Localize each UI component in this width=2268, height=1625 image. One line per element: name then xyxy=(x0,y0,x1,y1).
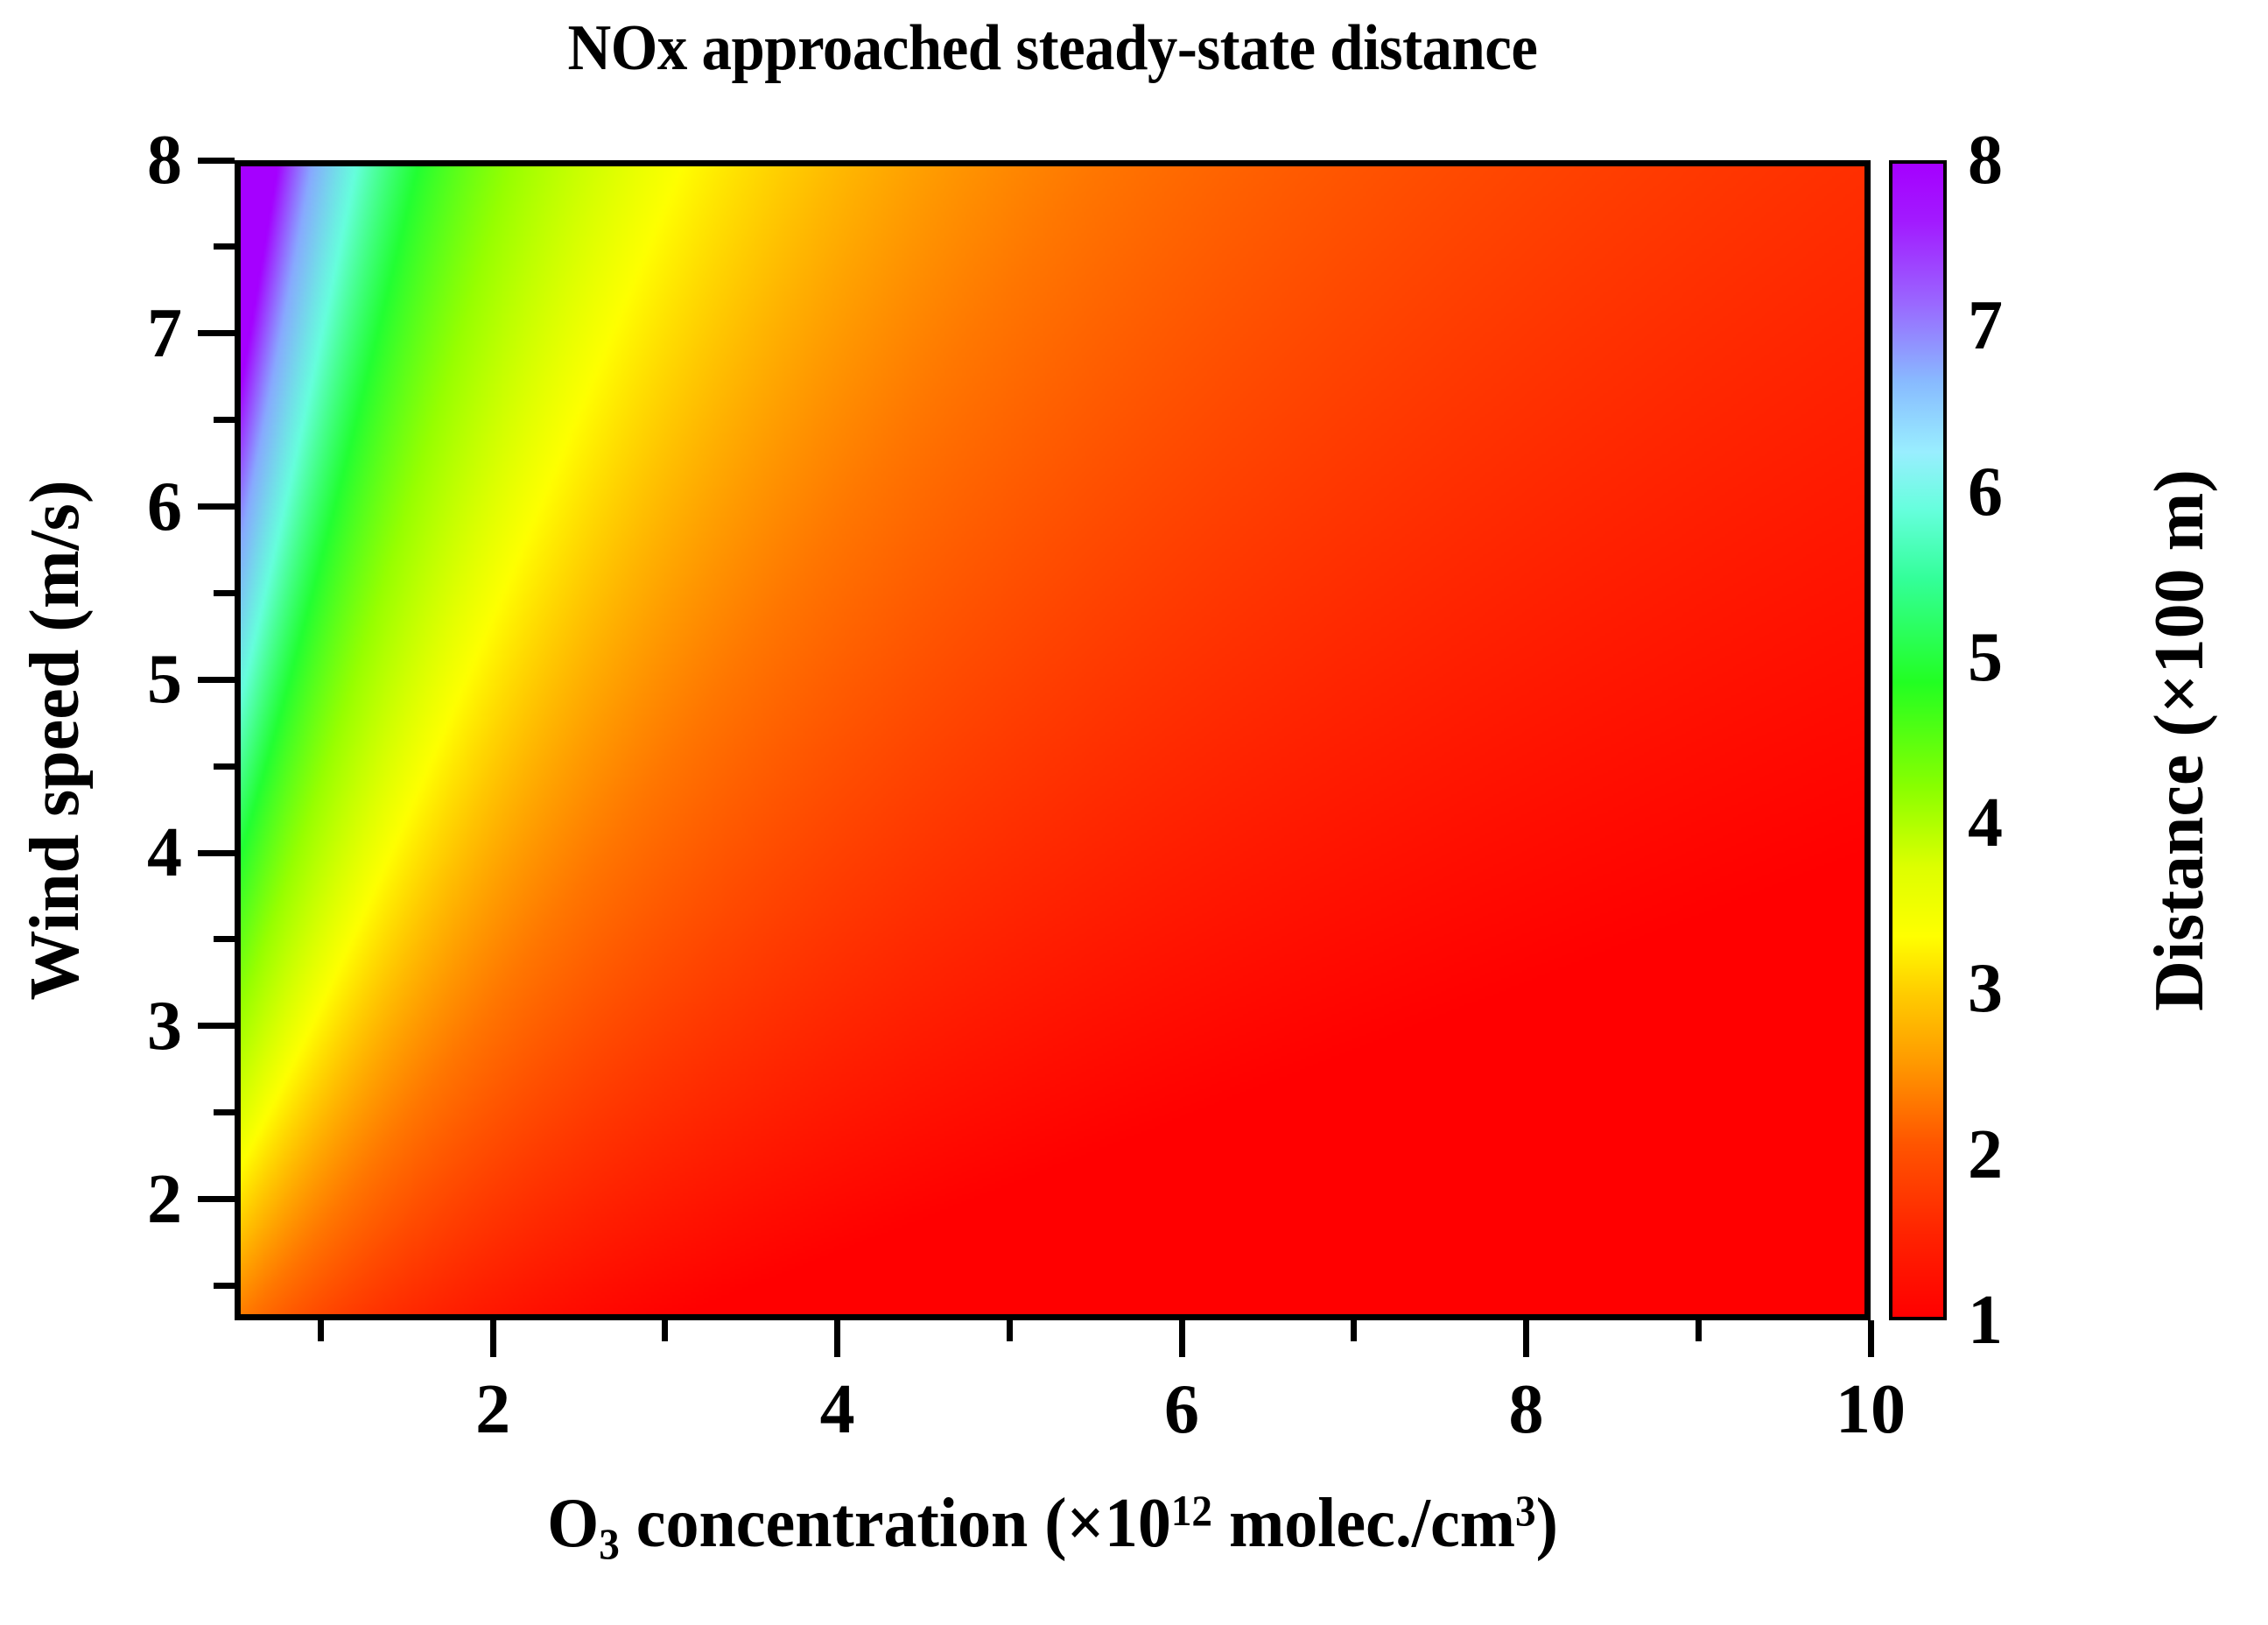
colorbar-tick-label: 1 xyxy=(1968,1285,2003,1355)
page-title: NOx approached steady-state distance xyxy=(291,16,1813,81)
y-axis-major-tick xyxy=(198,330,235,336)
y-axis-minor-tick xyxy=(214,936,235,942)
x-axis-minor-tick xyxy=(1351,1320,1357,1341)
y-axis-major-tick xyxy=(198,503,235,510)
figure-root: NOx approached steady-state distance 246… xyxy=(0,0,2268,1625)
x-axis-minor-tick xyxy=(1007,1320,1013,1341)
x-axis-label-sup3: 3 xyxy=(1515,1487,1536,1535)
y-axis-minor-tick xyxy=(214,1109,235,1115)
y-axis-major-tick xyxy=(198,850,235,856)
x-axis-tick-label: 8 xyxy=(1509,1375,1544,1445)
colorbar-tick-label: 4 xyxy=(1968,788,2003,858)
y-axis-minor-tick xyxy=(214,243,235,250)
x-axis-label-close: ) xyxy=(1536,1485,1558,1562)
x-axis-tick-label: 10 xyxy=(1836,1375,1906,1445)
y-axis-major-tick xyxy=(198,158,235,164)
x-axis-label-sub3: 3 xyxy=(599,1520,620,1568)
x-axis-tick-label: 4 xyxy=(820,1375,855,1445)
x-axis-label-sup12: 12 xyxy=(1171,1487,1212,1535)
x-axis-major-tick xyxy=(1868,1320,1874,1357)
colorbar-tick-label: 8 xyxy=(1968,125,2003,195)
x-axis-major-tick xyxy=(1523,1320,1529,1357)
x-axis-major-tick xyxy=(834,1320,840,1357)
colorbar-tick-label: 3 xyxy=(1968,953,2003,1024)
x-axis-minor-tick xyxy=(662,1320,668,1341)
x-axis-tick-label: 2 xyxy=(475,1375,510,1445)
y-axis-minor-tick xyxy=(214,763,235,770)
y-axis-minor-tick xyxy=(214,1283,235,1289)
heatmap-plot-area xyxy=(235,160,1871,1320)
colorbar xyxy=(1889,160,1947,1320)
x-axis-minor-tick xyxy=(318,1320,324,1341)
y-axis-label: Wind speed (m/s) xyxy=(16,160,95,1320)
x-axis-tick-label: 6 xyxy=(1164,1375,1199,1445)
x-axis-label-mid: concentration (×10 xyxy=(620,1485,1171,1562)
x-axis-label-o: O xyxy=(547,1485,599,1562)
y-axis-major-tick xyxy=(198,677,235,683)
colorbar-tick-label: 6 xyxy=(1968,457,2003,527)
heatmap-canvas xyxy=(241,166,1864,1314)
x-axis-label: O3 concentration (×1012 molec./cm3) xyxy=(276,1488,1830,1565)
colorbar-tick-label: 5 xyxy=(1968,623,2003,693)
x-axis-minor-tick xyxy=(1696,1320,1702,1341)
y-axis-major-tick xyxy=(198,1196,235,1202)
y-axis-minor-tick xyxy=(214,417,235,423)
x-axis-major-tick xyxy=(490,1320,496,1357)
x-axis-major-tick xyxy=(1179,1320,1185,1357)
y-axis-minor-tick xyxy=(214,590,235,596)
colorbar-tick-label: 2 xyxy=(1968,1120,2003,1190)
colorbar-tick-label: 7 xyxy=(1968,291,2003,361)
colorbar-label: Distance (×100 m) xyxy=(2136,160,2223,1320)
y-axis-major-tick xyxy=(198,1023,235,1029)
x-axis-label-post: molec./cm xyxy=(1212,1485,1515,1562)
